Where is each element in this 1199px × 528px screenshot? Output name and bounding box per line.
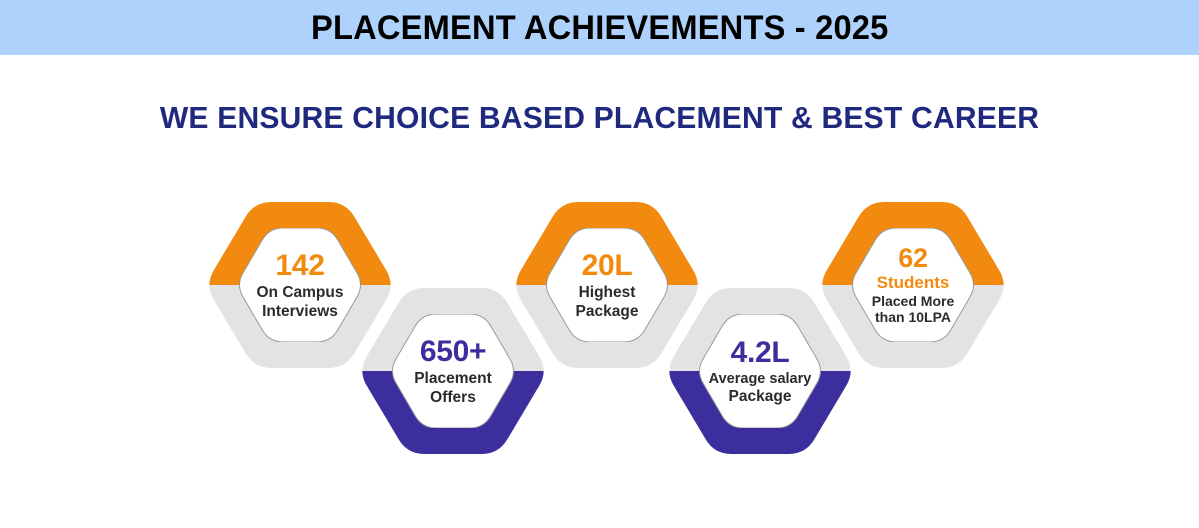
badge-value: 142 (275, 249, 324, 282)
badge-label-line: than 10LPA (875, 309, 951, 326)
badge-label-line: Highest (579, 284, 636, 302)
badge-content: 142On CampusInterviews (223, 202, 377, 368)
badge-accent-label: Students (877, 274, 950, 292)
badge-label-line: Package (576, 303, 639, 321)
badge-label-line: Placement (414, 370, 492, 388)
achievement-badge-on-campus-interviews: 142On CampusInterviews (205, 202, 395, 368)
achievement-badge-chain: 142On CampusInterviews650+PlacementOffer… (0, 0, 1199, 528)
badge-label-line: Package (729, 388, 792, 406)
badge-value: 20L (582, 249, 633, 282)
badge-label-line: On Campus (257, 284, 344, 302)
badge-label-line: Interviews (262, 303, 338, 321)
badge-content: 62StudentsPlaced Morethan 10LPA (836, 202, 990, 368)
badge-label-line: Placed More (872, 293, 954, 310)
badge-label-line: Offers (430, 389, 476, 407)
badge-value: 4.2L (731, 336, 790, 369)
badge-content: 4.2LAverage salaryPackage (683, 288, 837, 454)
badge-value: 62 (898, 244, 927, 274)
badge-value: 650+ (420, 335, 486, 368)
badge-label-line: Average salary (709, 371, 812, 388)
badge-content: 650+PlacementOffers (376, 288, 530, 454)
badge-content: 20LHighestPackage (530, 202, 684, 368)
